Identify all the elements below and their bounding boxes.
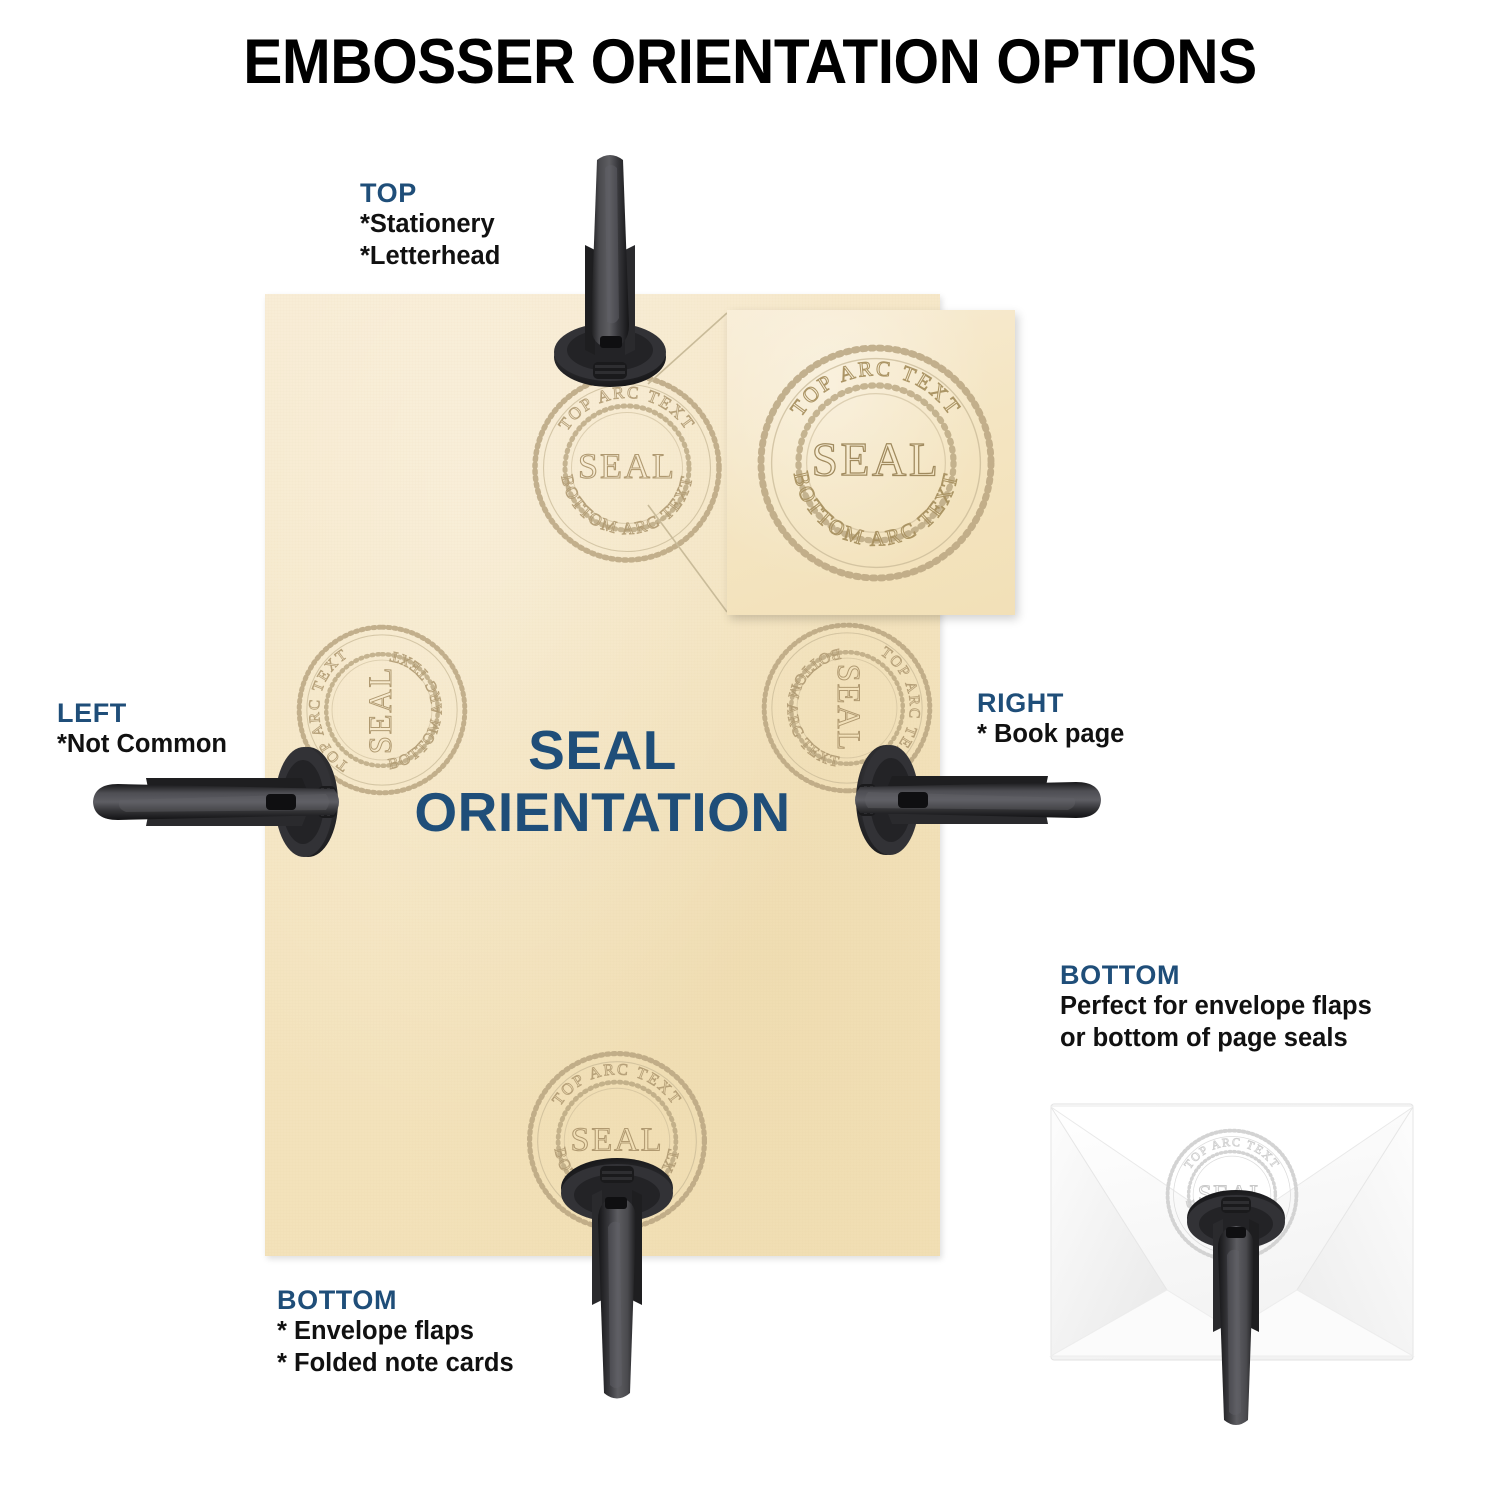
callout-label-bottom-page: BOTTOM * Envelope flaps * Folded note ca… [277, 1285, 514, 1379]
callout-left-line-1: *Not Common [57, 728, 227, 760]
center-label-line1: SEAL [330, 720, 875, 782]
callout-label-bottom-envelope: BOTTOM Perfect for envelope flaps or bot… [1060, 960, 1372, 1054]
callout-bottom-envelope-line-1: Perfect for envelope flaps [1060, 990, 1372, 1022]
seal-stamp-top: TOP ARC TEXT BOTTOM ARC TEXT SEAL [527, 368, 727, 568]
callout-right-line-1: * Book page [977, 718, 1124, 750]
center-label-line2: ORIENTATION [330, 782, 875, 844]
page-title: EMBOSSER ORIENTATION OPTIONS [53, 26, 1448, 98]
callout-left-heading: LEFT [57, 698, 227, 728]
embosser-bottom [552, 1155, 682, 1405]
embosser-top [545, 150, 675, 390]
callout-label-left: LEFT *Not Common [57, 698, 227, 760]
seal-center-text: SEAL [578, 446, 676, 486]
embosser-right [843, 740, 1108, 860]
callout-right-heading: RIGHT [977, 688, 1124, 718]
svg-text:SEAL: SEAL [812, 435, 941, 487]
callout-bottom-page-line-1: * Envelope flaps [277, 1315, 514, 1347]
zoom-callout-panel: TOP ARC TEXT BOTTOM ARC TEXT SEAL [727, 310, 1015, 615]
callout-bottom-page-line-2: * Folded note cards [277, 1347, 514, 1379]
callout-label-top: TOP *Stationery *Letterhead [360, 178, 500, 272]
callout-top-heading: TOP [360, 178, 500, 208]
callout-top-line-2: *Letterhead [360, 240, 500, 272]
callout-bottom-envelope-heading: BOTTOM [1060, 960, 1372, 990]
svg-text:SEAL: SEAL [570, 1122, 663, 1159]
callout-bottom-envelope-line-2: or bottom of page seals [1060, 1022, 1372, 1054]
seal-stamp-magnified: TOP ARC TEXT BOTTOM ARC TEXT SEAL [751, 338, 1001, 588]
center-orientation-label: SEAL ORIENTATION [330, 720, 875, 843]
embosser-envelope [1178, 1185, 1293, 1430]
callout-top-line-1: *Stationery [360, 208, 500, 240]
callout-label-right: RIGHT * Book page [977, 688, 1124, 750]
callout-bottom-page-heading: BOTTOM [277, 1285, 514, 1315]
